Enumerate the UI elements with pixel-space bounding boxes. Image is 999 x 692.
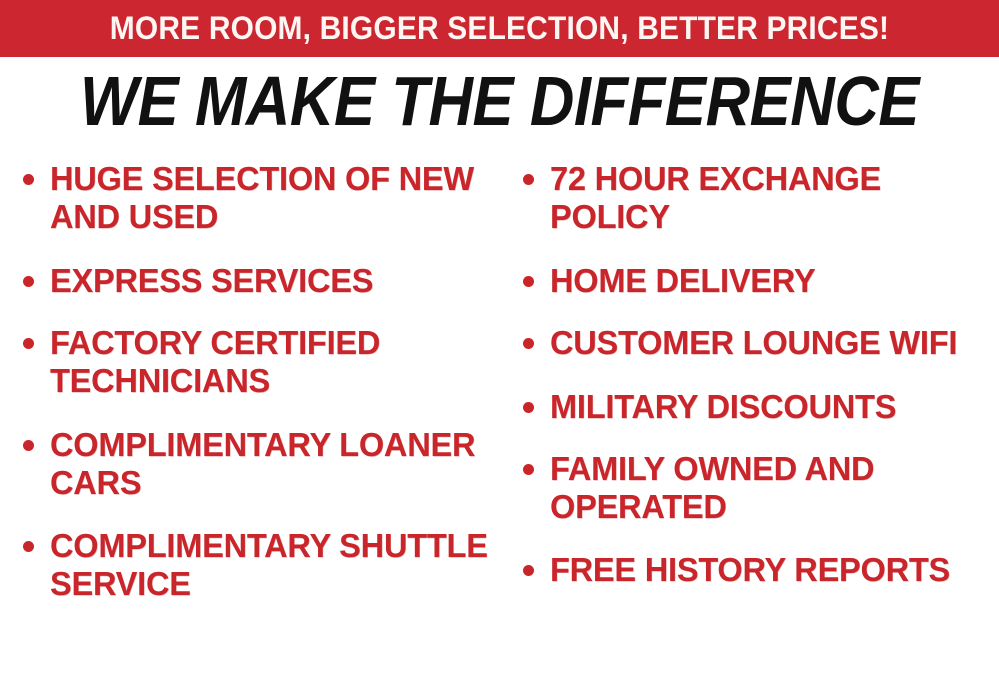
list-item: EXPRESS SERVICES	[14, 262, 504, 300]
list-item-label: HOME DELIVERY	[550, 262, 992, 300]
list-item: COMPLIMENTARY SHUTTLE SERVICE	[14, 527, 504, 603]
list-item-label: EXPRESS SERVICES	[50, 262, 497, 300]
bullet-dot-icon	[23, 276, 34, 287]
bullet-dot-icon	[23, 440, 34, 451]
list-item-label: COMPLIMENTARY SHUTTLE SERVICE	[50, 527, 497, 603]
bullet-dot-icon	[23, 174, 34, 185]
bullet-dot-icon	[523, 174, 534, 185]
list-item: FREE HISTORY REPORTS	[514, 551, 999, 589]
bullet-dot-icon	[23, 541, 34, 552]
list-item-label: HUGE SELECTION OF NEW AND USED	[50, 160, 497, 236]
list-item-label: CUSTOMER LOUNGE WIFI	[550, 324, 992, 362]
list-item-label: FREE HISTORY REPORTS	[550, 551, 992, 589]
features-column-right: 72 HOUR EXCHANGE POLICY HOME DELIVERY CU…	[514, 160, 999, 607]
list-item: FAMILY OWNED AND OPERATED	[514, 450, 999, 526]
list-item: HUGE SELECTION OF NEW AND USED	[14, 160, 504, 236]
list-item: CUSTOMER LOUNGE WIFI	[514, 324, 999, 362]
page-title: WE MAKE THE DIFFERENCE	[60, 66, 939, 136]
list-item-label: MILITARY DISCOUNTS	[550, 388, 992, 426]
bullet-dot-icon	[523, 402, 534, 413]
list-item: HOME DELIVERY	[514, 262, 999, 300]
bullet-dot-icon	[523, 565, 534, 576]
list-item: COMPLIMENTARY LOANER CARS	[14, 426, 504, 502]
list-item: 72 HOUR EXCHANGE POLICY	[514, 160, 999, 236]
bullet-dot-icon	[523, 338, 534, 349]
features-columns: HUGE SELECTION OF NEW AND USED EXPRESS S…	[0, 160, 999, 692]
list-item-label: FACTORY CERTIFIED TECHNICIANS	[50, 324, 497, 400]
top-banner: MORE ROOM, BIGGER SELECTION, BETTER PRIC…	[0, 0, 999, 57]
list-item: FACTORY CERTIFIED TECHNICIANS	[14, 324, 504, 400]
bullet-dot-icon	[23, 338, 34, 349]
list-item: MILITARY DISCOUNTS	[514, 388, 999, 426]
banner-headline: MORE ROOM, BIGGER SELECTION, BETTER PRIC…	[32, 0, 966, 57]
features-column-left: HUGE SELECTION OF NEW AND USED EXPRESS S…	[14, 160, 504, 621]
list-item-label: FAMILY OWNED AND OPERATED	[550, 450, 992, 526]
list-item-label: 72 HOUR EXCHANGE POLICY	[550, 160, 992, 236]
bullet-dot-icon	[523, 464, 534, 475]
promotional-poster: MORE ROOM, BIGGER SELECTION, BETTER PRIC…	[0, 0, 999, 692]
list-item-label: COMPLIMENTARY LOANER CARS	[50, 426, 497, 502]
bullet-dot-icon	[523, 276, 534, 287]
